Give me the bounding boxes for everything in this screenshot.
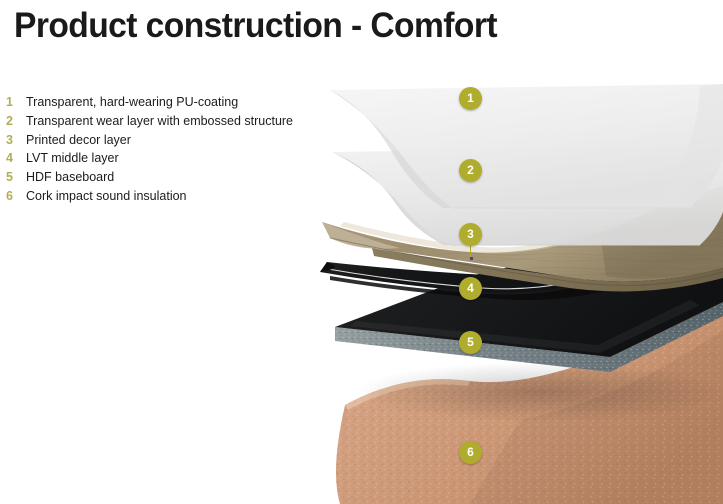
layer-badge-2[interactable]: 2	[459, 159, 482, 182]
layer-badge-1[interactable]: 1	[459, 87, 482, 110]
badge-pointer-3	[470, 244, 471, 258]
layer-badge-6[interactable]: 6	[459, 441, 482, 464]
badge-pointer-3b	[470, 257, 473, 260]
layer-badge-5[interactable]: 5	[459, 331, 482, 354]
layer-badge-3[interactable]: 3	[459, 223, 482, 246]
product-construction-diagram	[0, 0, 723, 504]
layer-badge-4[interactable]: 4	[459, 277, 482, 300]
